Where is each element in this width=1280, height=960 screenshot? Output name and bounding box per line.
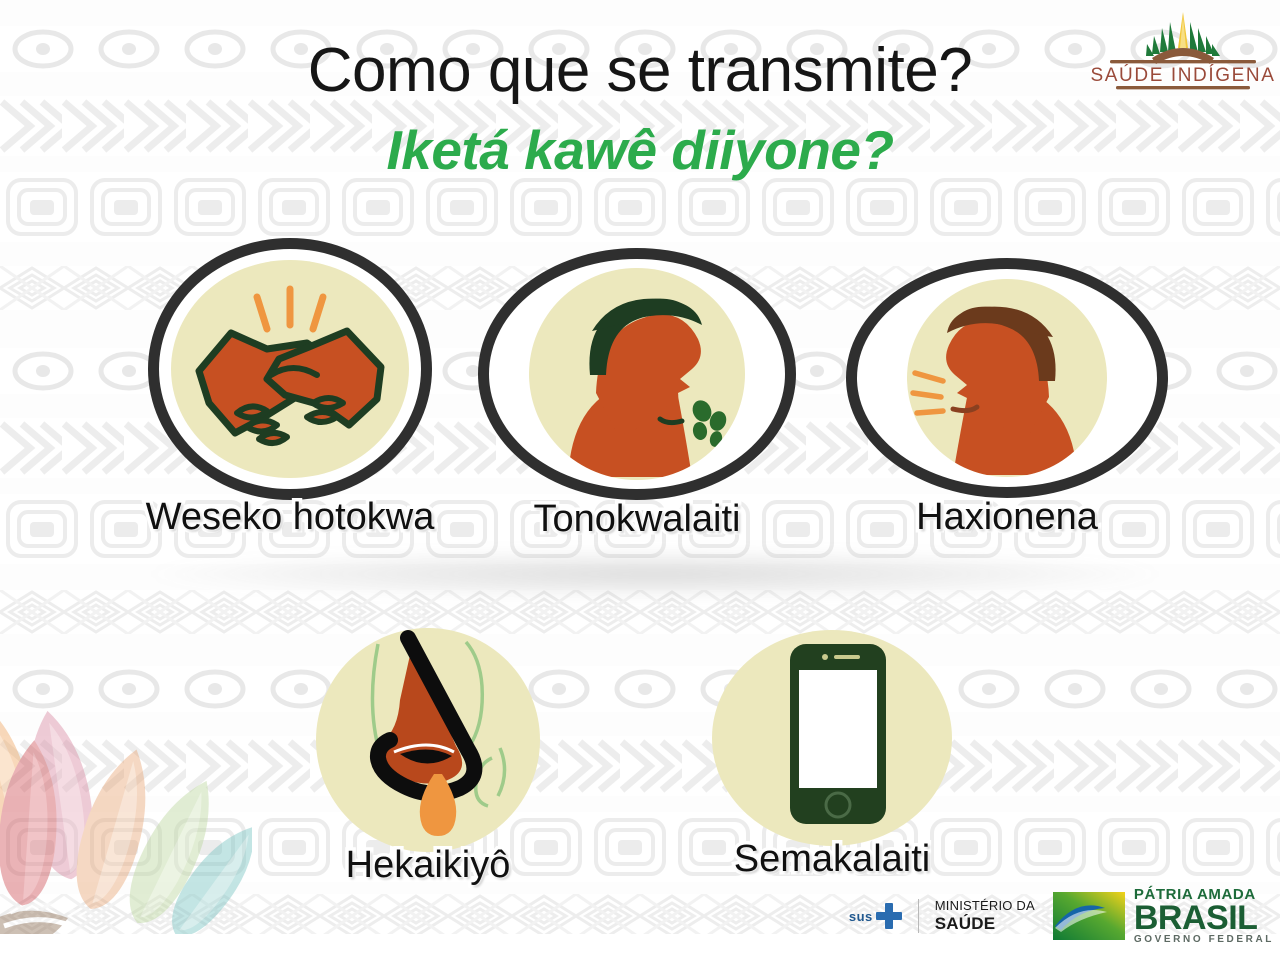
page-title-portuguese: Como que se transmite? xyxy=(0,38,1280,103)
ministry-line-1: MINISTÉRIO DA xyxy=(935,899,1035,914)
person-spitting-icon xyxy=(532,271,742,477)
transmission-item-runny-nose[interactable]: Hekaikiyô xyxy=(316,628,540,852)
transmission-item-handshake[interactable]: Weseko hotokwa xyxy=(148,238,432,500)
icon-ring xyxy=(846,258,1168,498)
item-label: Hekaikiyô xyxy=(346,844,511,887)
saude-indigena-logo: SAÚDE INDÍGENA xyxy=(1090,6,1276,98)
item-label: Weseko hotokwa xyxy=(146,496,435,539)
cross-icon xyxy=(876,903,902,929)
brasil-line-2: BRASIL xyxy=(1134,902,1274,934)
footer-logos: sus MINISTÉRIO DA SAÚDE xyxy=(849,890,1274,942)
pattern-band-chevrons xyxy=(0,736,1280,796)
brasil-line-3: GOVERNO FEDERAL xyxy=(1134,935,1274,945)
svg-text:SAÚDE INDÍGENA: SAÚDE INDÍGENA xyxy=(1091,64,1276,86)
page-title-indigenous: Iketá kawê diiyone? xyxy=(0,122,1280,180)
item-label: Haxionena xyxy=(916,496,1098,539)
ministry-line-2: SAÚDE xyxy=(935,914,1035,933)
pattern-band-circles xyxy=(0,666,1280,712)
transmission-item-saliva[interactable]: Tonokwalaiti xyxy=(478,248,796,500)
footer-divider xyxy=(918,899,919,933)
icon-disc xyxy=(171,260,409,478)
governo-federal-logo: PÁTRIA AMADA BRASIL GOVERNO FEDERAL xyxy=(1053,887,1274,945)
smartphone-icon xyxy=(712,630,952,846)
icon-disc xyxy=(712,630,952,846)
feather-decoration xyxy=(0,660,252,960)
item-label: Semakalaiti xyxy=(734,838,930,881)
icon-disc xyxy=(316,628,540,852)
transmission-item-cough[interactable]: Haxionena xyxy=(846,258,1168,498)
icon-ring xyxy=(148,238,432,500)
row-shadow xyxy=(150,548,1160,600)
brasil-flag-icon xyxy=(1053,892,1125,940)
handshake-icon xyxy=(175,263,405,475)
transmission-item-phone[interactable]: Semakalaiti xyxy=(712,630,952,846)
sus-label: sus xyxy=(849,909,873,924)
pattern-band-squares xyxy=(0,172,1280,242)
icon-disc xyxy=(907,279,1107,477)
ministry-of-health-logo: MINISTÉRIO DA SAÚDE xyxy=(935,899,1035,933)
runny-nose-icon xyxy=(316,628,540,852)
pattern-band-diamonds xyxy=(0,590,1280,634)
item-label: Tonokwalaiti xyxy=(534,498,741,541)
slide-canvas: Como que se transmite? Iketá kawê diiyon… xyxy=(0,0,1280,960)
person-coughing-icon xyxy=(909,281,1105,475)
icon-disc xyxy=(529,268,745,480)
icon-ring xyxy=(478,248,796,500)
pattern-band-squares xyxy=(0,812,1280,882)
sus-logo: sus xyxy=(849,903,902,929)
